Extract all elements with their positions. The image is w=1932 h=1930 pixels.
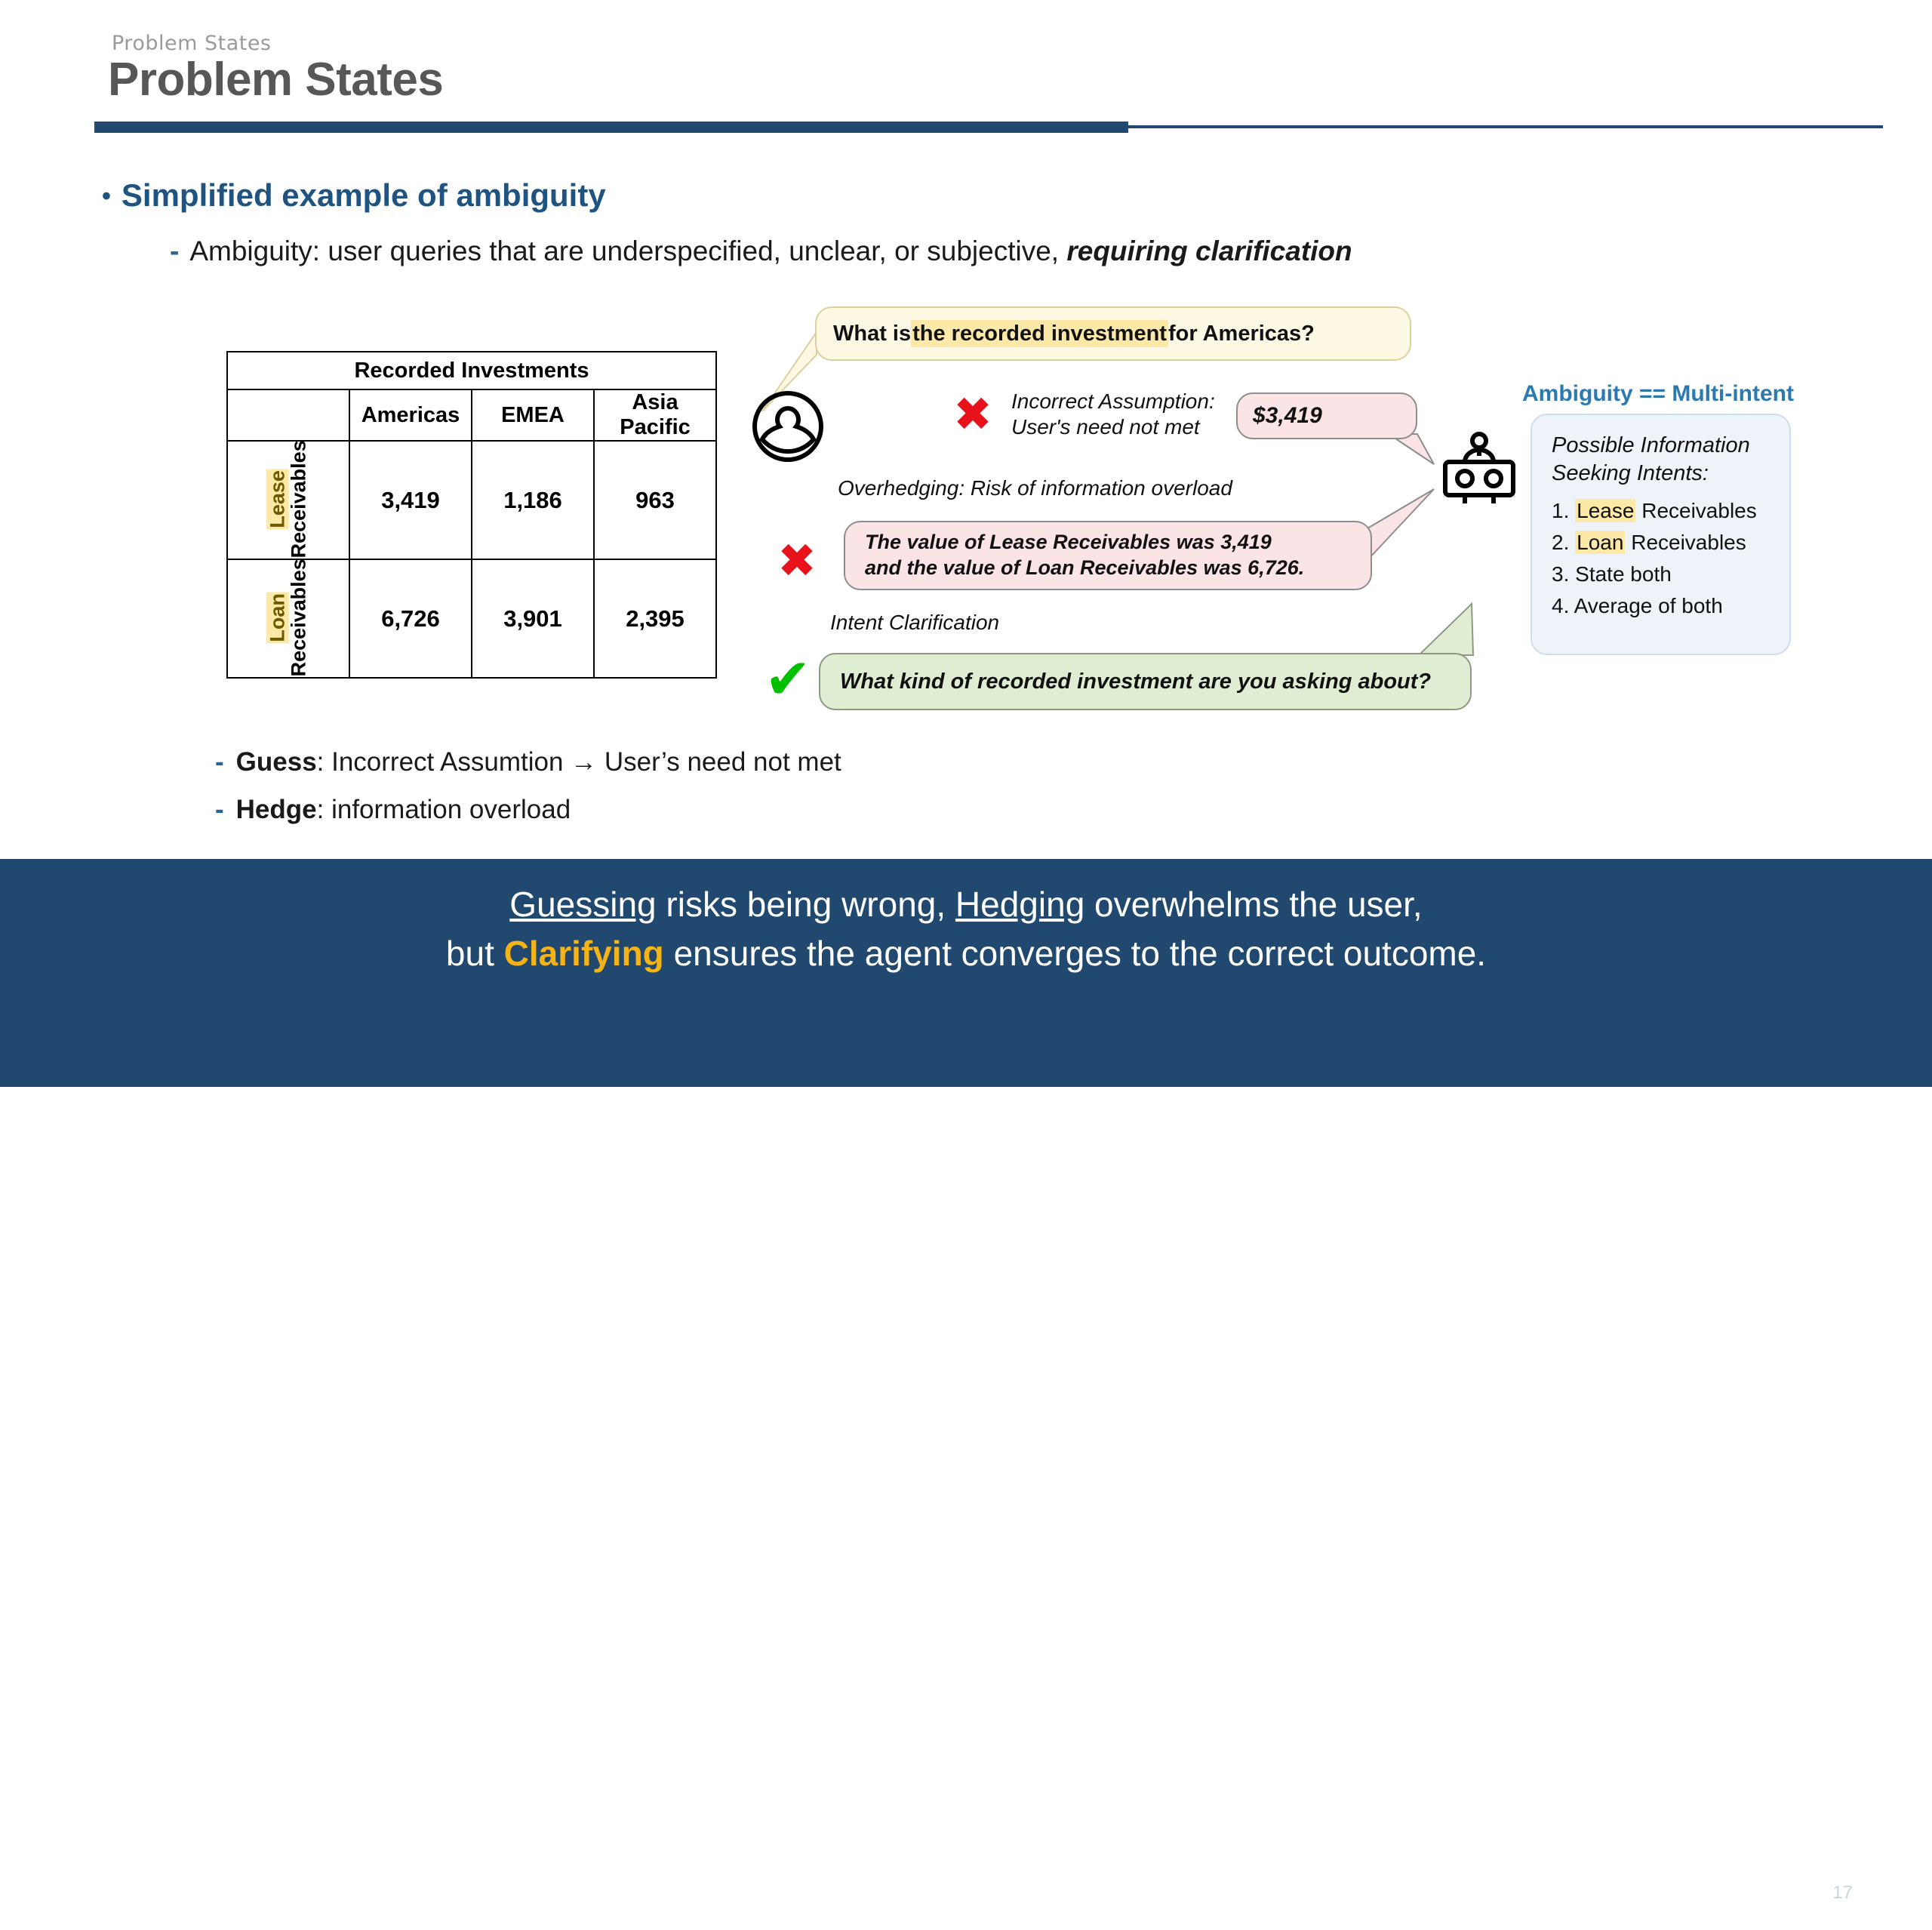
banner-clarifying: Clarifying xyxy=(504,934,664,973)
multi-intent-title: Ambiguity == Multi-intent xyxy=(1522,381,1794,407)
dash-icon: - xyxy=(215,795,224,824)
list-item: 3. State both xyxy=(1552,559,1776,590)
bullet-sub-emphasis: requiring clarification xyxy=(1066,235,1352,266)
clarify-answer-bubble: What kind of recorded investment are you… xyxy=(819,653,1472,710)
dash-icon: - xyxy=(170,235,179,266)
loan-highlight: Loan xyxy=(266,592,289,644)
item-highlight: Lease xyxy=(1575,499,1635,522)
cell-lease-asia: 963 xyxy=(594,441,716,559)
multi-intent-heading-line2: Seeking Intents: xyxy=(1552,461,1709,485)
item-highlight: Loan xyxy=(1575,531,1625,554)
header-divider-thick xyxy=(94,122,1128,133)
item-rest: Receivables xyxy=(1625,531,1746,554)
guess-annotation: Incorrect Assumption: User's need not me… xyxy=(1011,389,1215,439)
bullet-sub-text: Ambiguity: user queries that are undersp… xyxy=(189,235,1066,266)
bullet-guess: -Guess: Incorrect Assumtion → User’s nee… xyxy=(215,747,841,777)
item-rest: State both xyxy=(1575,562,1672,586)
x-mark-hedge-icon: ✖ xyxy=(777,537,817,584)
table-title-row: Recorded Investments xyxy=(227,352,716,389)
question-pre: What is xyxy=(833,320,911,347)
row-header-lease-label: LeaseReceivables xyxy=(267,440,310,558)
question-post: for Americas? xyxy=(1168,320,1315,347)
banner-line-2: but Clarifying ensures the agent converg… xyxy=(0,933,1932,974)
bullet-main: •Simplified example of ambiguity xyxy=(102,177,606,214)
lease-rest: Receivables xyxy=(288,440,310,558)
dash-icon: - xyxy=(215,747,224,777)
hedge-label: Hedge xyxy=(236,795,317,824)
column-header-americas: Americas xyxy=(349,389,472,441)
user-question-bubble: What is the recorded investment for Amer… xyxy=(815,306,1411,361)
bullet-main-label: Simplified example of ambiguity xyxy=(122,177,606,213)
hedge-answer-bubble: The value of Lease Receivables was 3,419… xyxy=(844,521,1372,590)
multi-intent-list: 1. Lease Receivables 2. Loan Receivables… xyxy=(1552,495,1776,622)
banner-l1b: risks being wrong, xyxy=(657,885,955,924)
guess-label: Guess xyxy=(236,747,317,777)
list-item: 2. Loan Receivables xyxy=(1552,527,1776,559)
hedge-annotation: Overhedging: Risk of information overloa… xyxy=(838,476,1232,501)
multi-intent-heading-line1: Possible Information xyxy=(1552,433,1750,457)
check-mark-icon: ✔ xyxy=(764,651,811,707)
question-highlight: the recorded investment xyxy=(911,320,1168,347)
list-item: 4. Average of both xyxy=(1552,590,1776,622)
guess-text: : Incorrect Assumtion → User’s need not … xyxy=(317,747,841,777)
clarify-annotation: Intent Clarification xyxy=(830,610,999,636)
table-row: LeaseReceivables 3,419 1,186 963 xyxy=(227,441,716,559)
item-rest: Average of both xyxy=(1574,594,1723,617)
multi-intent-panel: Possible Information Seeking Intents: 1.… xyxy=(1531,414,1791,655)
footer-lab-text: Natural Language Processing Lab., Hanyan… xyxy=(0,1879,1932,1930)
cell-loan-emea: 3,901 xyxy=(472,559,594,678)
table-header-row: Americas EMEA Asia Pacific xyxy=(227,389,716,441)
row-header-loan-receivables: LoanReceivables xyxy=(227,559,349,678)
robot-avatar xyxy=(1438,429,1521,504)
guess-annotation-line1: Incorrect Assumption: xyxy=(1011,389,1215,413)
banner-hedging: Hedging xyxy=(955,885,1084,924)
bullet-dot-icon: • xyxy=(102,182,111,211)
column-header-asia-pacific: Asia Pacific xyxy=(594,389,716,441)
row-header-lease-receivables: LeaseReceivables xyxy=(227,441,349,559)
list-item: 1. Lease Receivables xyxy=(1552,495,1776,527)
banner-line-1: Guessing risks being wrong, Hedging over… xyxy=(0,884,1932,925)
page-number: 17 xyxy=(1832,1882,1853,1904)
banner-guessing: Guessing xyxy=(509,885,656,924)
header-divider-thin xyxy=(1128,125,1883,128)
takeaway-banner: Guessing risks being wrong, Hedging over… xyxy=(0,859,1932,1087)
lease-highlight: Lease xyxy=(266,469,289,530)
item-number: 2. xyxy=(1552,531,1569,554)
item-number: 4. xyxy=(1552,594,1569,617)
multi-intent-heading: Possible Information Seeking Intents: xyxy=(1552,432,1776,488)
lab-line1: Natural Language Processing Lab., xyxy=(814,1882,1117,1902)
cell-lease-americas: 3,419 xyxy=(349,441,472,559)
column-header-emea: EMEA xyxy=(472,389,594,441)
slide-eyebrow: Problem States xyxy=(112,32,272,55)
lab-line2: Hanyang University. xyxy=(880,1907,1053,1928)
table-title: Recorded Investments xyxy=(227,352,716,389)
bullet-sub: -Ambiguity: user queries that are unders… xyxy=(170,235,1352,267)
guess-answer-bubble: $3,419 xyxy=(1236,392,1417,439)
cell-loan-americas: 6,726 xyxy=(349,559,472,678)
table-corner-cell xyxy=(227,389,349,441)
bullet-hedge: -Hedge: information overload xyxy=(215,795,571,825)
user-avatar xyxy=(747,389,829,464)
x-mark-guess-icon: ✖ xyxy=(953,391,992,438)
hedge-answer-line1: The value of Lease Receivables was 3,419 xyxy=(865,531,1272,553)
banner-l1d: overwhelms the user, xyxy=(1084,885,1422,924)
page-title: Problem States xyxy=(108,53,443,106)
recorded-investments-table: Recorded Investments Americas EMEA Asia … xyxy=(226,351,717,679)
cell-loan-asia: 2,395 xyxy=(594,559,716,678)
guess-annotation-line2: User's need not met xyxy=(1011,415,1200,439)
table-row: LoanReceivables 6,726 3,901 2,395 xyxy=(227,559,716,678)
row-header-loan-label: LoanReceivables xyxy=(267,559,310,676)
loan-rest: Receivables xyxy=(288,559,310,676)
item-rest: Receivables xyxy=(1635,499,1756,522)
hedge-text: : information overload xyxy=(317,795,571,824)
banner-l2a: but xyxy=(446,934,504,973)
item-number: 3. xyxy=(1552,562,1569,586)
hedge-answer-line2: and the value of Loan Receivables was 6,… xyxy=(865,556,1304,579)
cell-lease-emea: 1,186 xyxy=(472,441,594,559)
item-number: 1. xyxy=(1552,499,1569,522)
banner-l2c: ensures the agent converges to the corre… xyxy=(664,934,1486,973)
